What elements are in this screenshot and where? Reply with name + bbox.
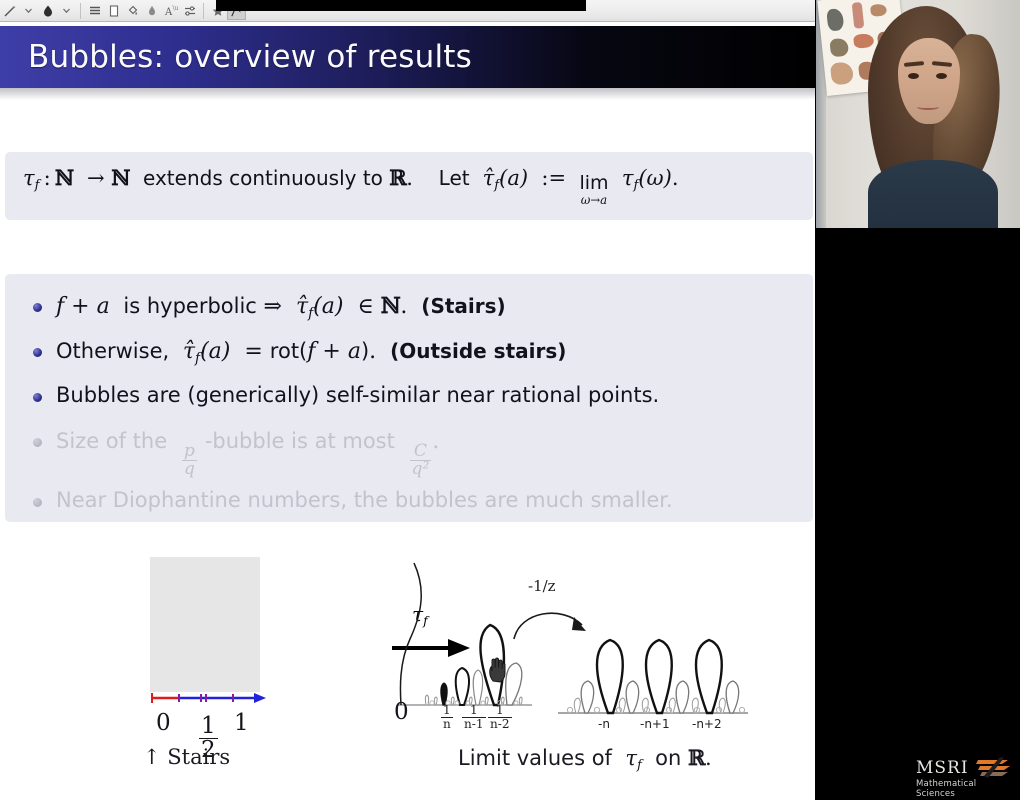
line-dropdown-icon[interactable]: [19, 1, 38, 20]
right-bubble-label-minus-n-plus-1: -n+1: [640, 717, 670, 731]
bullet-self-similar-text: Bubbles are (generically) self-similar n…: [56, 380, 659, 412]
right-bubble-figure: [552, 609, 752, 734]
bullet-dot-icon: [33, 498, 42, 507]
stairs-label-1: 1: [234, 710, 249, 736]
bullet-size-text: Size of the pq -bubble is at most Cq².: [56, 425, 439, 478]
msri-mark-icon: [974, 756, 1012, 780]
highlighter-tool-icon[interactable]: [38, 1, 57, 20]
msri-subtitle: Mathematical Sciences: [916, 779, 1012, 799]
bullet-size: Size of the pq -bubble is at most Cq².: [33, 425, 813, 478]
bullet-outside-stairs: Otherwise, τ̂f(a) = rot(f + a). (Outside…: [33, 335, 813, 373]
bullet-diophantine-text: Near Diophantine numbers, the bubbles ar…: [56, 485, 673, 517]
left-bubble-label-1-over-n: 1n: [440, 699, 454, 730]
annotation-toolbar: A\u00b9: [0, 0, 815, 22]
toolbar-group-draw: [0, 0, 76, 22]
toolbar-separator-2: [203, 3, 204, 19]
bullet-dot-icon: [33, 348, 42, 357]
video-panel-background: [816, 228, 1020, 800]
toolbar-overlay-bar: [216, 0, 586, 11]
statement-box: τf : ℕ → ℕ extends continuously to ℝ. Le…: [5, 152, 813, 220]
bullet-self-similar: Bubbles are (generically) self-similar n…: [33, 380, 813, 418]
highlighter-dropdown-icon[interactable]: [57, 1, 76, 20]
right-bubble-label-minus-n: -n: [598, 717, 610, 731]
statement-text: τf : ℕ → ℕ extends continuously to ℝ. Le…: [23, 165, 679, 206]
bullet-outside-stairs-text: Otherwise, τ̂f(a) = rot(f + a). (Outside…: [56, 335, 566, 369]
msri-logo: MSRI Mathematical Sciences: [916, 758, 1012, 794]
toolbar-separator-1: [80, 3, 81, 19]
presenter-eye-right: [936, 73, 947, 79]
limit-caption: Limit values of τf on ℝ.: [458, 745, 712, 773]
figures-area: 0 12 1 τf: [0, 527, 815, 800]
screen-root: A\u00b9 Bubbles: overview of results τf …: [0, 0, 1020, 800]
left-bubble-origin-label: 0: [394, 699, 409, 725]
presenter-mouth: [917, 104, 939, 110]
bullet-diophantine: Near Diophantine numbers, the bubbles ar…: [33, 485, 813, 523]
bullet-stairs-text: f + a is hyperbolic ⇒ τ̂f(a) ∈ ℕ. (Stair…: [56, 290, 506, 324]
bullet-dot-icon: [33, 393, 42, 402]
font-size-icon[interactable]: A\u00b9: [161, 1, 180, 20]
stairs-number-line: [148, 682, 318, 742]
fill-bucket-icon[interactable]: [123, 1, 142, 20]
stairs-label-0: 0: [156, 710, 171, 736]
stairs-domain-rect: [150, 557, 260, 692]
left-bubble-label-1-over-n-2: 1n-2: [487, 699, 513, 730]
stairs-caption: ↑ Stairs: [143, 745, 230, 769]
right-bubble-label-minus-n-plus-2: -n+2: [692, 717, 722, 731]
inversion-label: -1/z: [528, 577, 556, 595]
left-bubble-label-1-over-n-1: 1n-1: [461, 699, 487, 730]
bullet-stairs: f + a is hyperbolic ⇒ τ̂f(a) ∈ ℕ. (Stair…: [33, 290, 813, 328]
page-title: Bubbles: overview of results: [28, 39, 472, 75]
toolbar-group-format: A\u00b9: [85, 0, 199, 22]
presentation-slide: Bubbles: overview of results τf : ℕ → ℕ …: [0, 22, 815, 800]
presenter-video[interactable]: [816, 0, 1020, 228]
slide-title-bar: Bubbles: overview of results: [0, 26, 815, 88]
bullet-dot-icon: [33, 303, 42, 312]
bullet-dot-icon: [33, 438, 42, 447]
bullets-box: f + a is hyperbolic ⇒ τ̂f(a) ∈ ℕ. (Stair…: [5, 274, 813, 522]
presenter-eye-left: [908, 73, 919, 79]
ink-drop-icon[interactable]: [142, 1, 161, 20]
text-lines-icon[interactable]: [85, 1, 104, 20]
hand-cursor-icon: [487, 657, 509, 683]
svg-text:\u00b9: \u00b9: [172, 5, 178, 12]
line-tool-icon[interactable]: [0, 1, 19, 20]
presenter-torso: [868, 160, 998, 228]
settings-sliders-icon[interactable]: [180, 1, 199, 20]
page-icon[interactable]: [104, 1, 123, 20]
